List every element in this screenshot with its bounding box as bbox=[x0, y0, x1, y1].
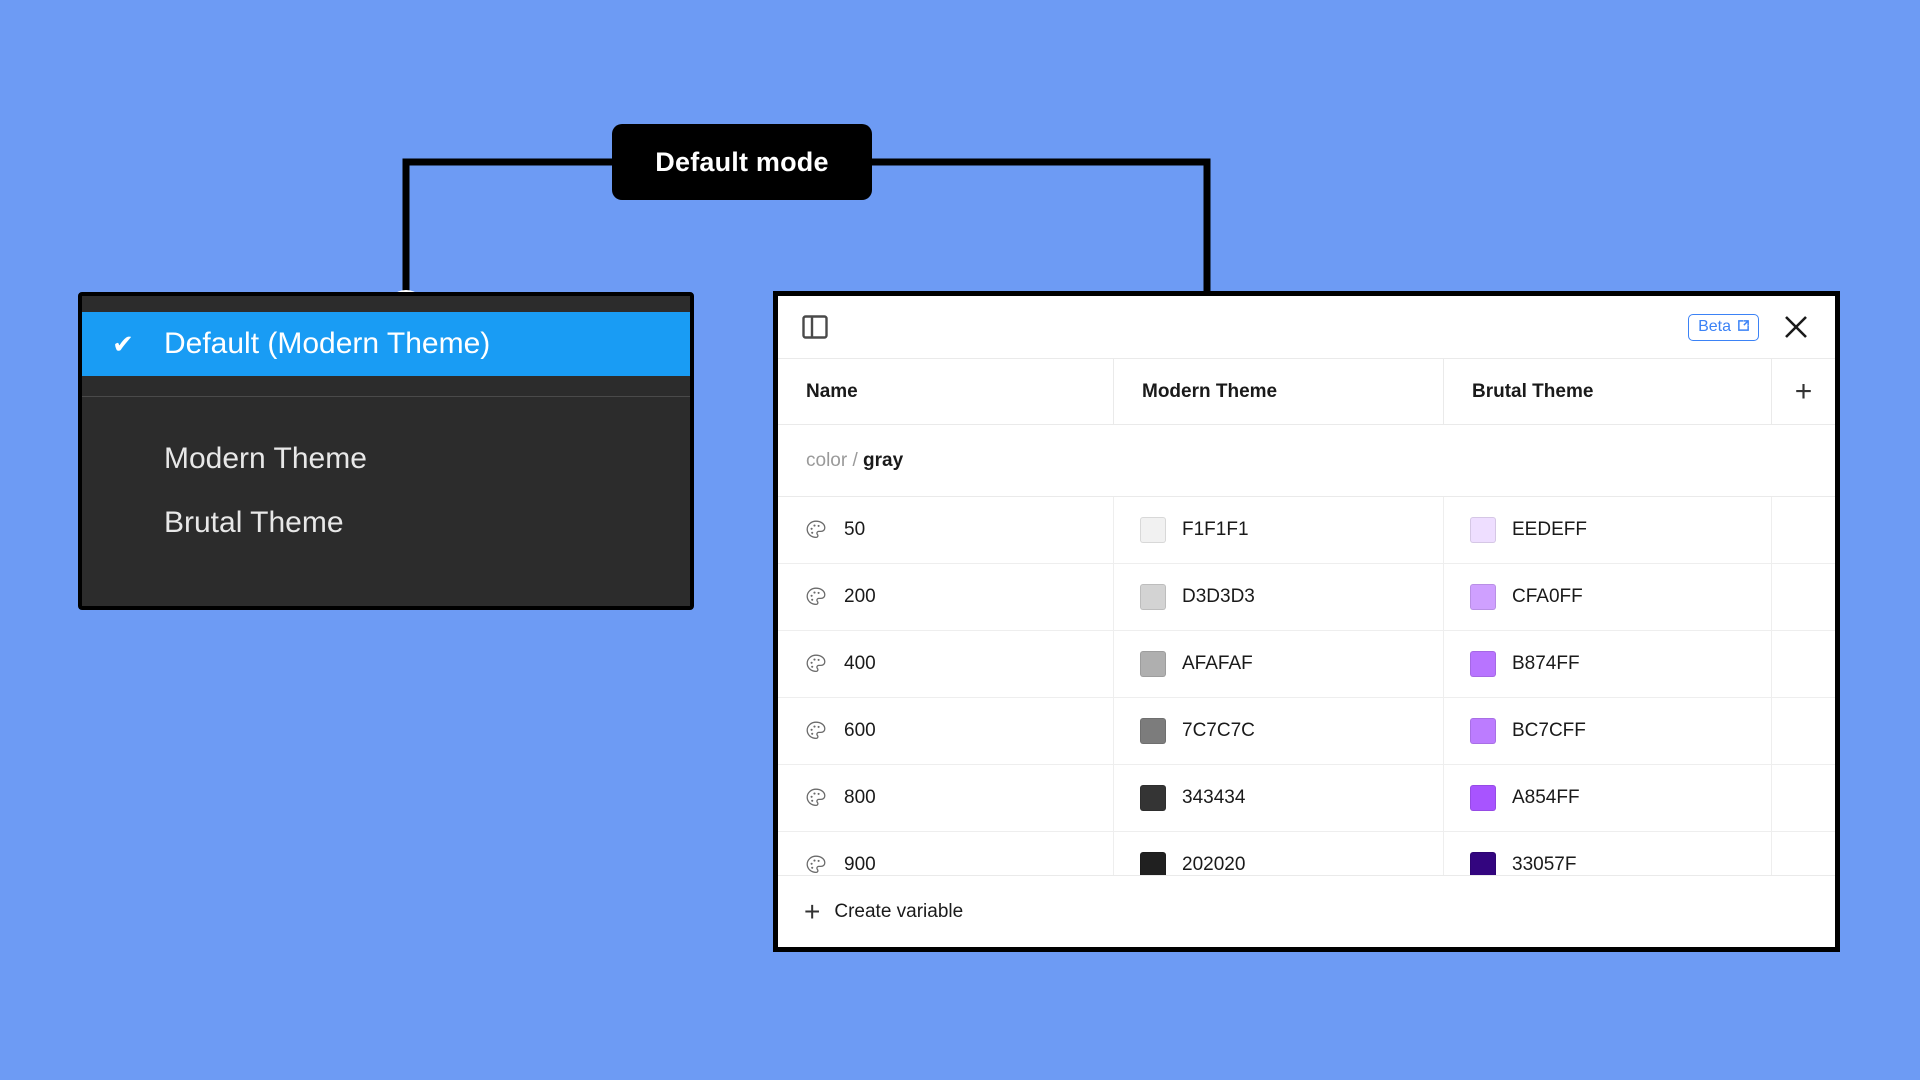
cell-value: 343434 bbox=[1182, 787, 1245, 809]
cell-value: AFAFAF bbox=[1182, 653, 1253, 675]
plus-icon: + bbox=[1795, 377, 1813, 407]
color-swatch bbox=[1470, 517, 1496, 543]
row-name-label: 600 bbox=[844, 720, 876, 742]
dropdown-top-padding bbox=[82, 296, 690, 312]
color-swatch bbox=[1140, 785, 1166, 811]
row-name-cell[interactable]: 900 bbox=[778, 832, 1114, 875]
cell-brutal-theme[interactable]: A854FF bbox=[1444, 765, 1772, 831]
palette-icon bbox=[804, 518, 828, 542]
cell-brutal-theme[interactable]: 33057F bbox=[1444, 832, 1772, 875]
cell-empty bbox=[1772, 698, 1835, 764]
row-name-cell[interactable]: 50 bbox=[778, 497, 1114, 563]
table-row[interactable]: 200 D3D3D3 CFA0FF bbox=[778, 564, 1835, 631]
color-swatch bbox=[1140, 718, 1166, 744]
beta-badge-label: Beta bbox=[1698, 319, 1731, 335]
cell-brutal-theme[interactable]: BC7CFF bbox=[1444, 698, 1772, 764]
cell-empty bbox=[1772, 765, 1835, 831]
cell-value: 33057F bbox=[1512, 854, 1576, 875]
variable-group-header[interactable]: color / gray bbox=[778, 425, 1835, 497]
cell-modern-theme[interactable]: AFAFAF bbox=[1114, 631, 1444, 697]
cell-modern-theme[interactable]: 343434 bbox=[1114, 765, 1444, 831]
dropdown-item-label: Modern Theme bbox=[164, 442, 385, 476]
dropdown-item-brutal-theme[interactable]: Brutal Theme bbox=[82, 491, 690, 555]
dropdown-item-default-mode[interactable]: ✔ Default (Modern Theme) bbox=[82, 312, 690, 376]
palette-icon bbox=[804, 786, 828, 810]
color-swatch bbox=[1470, 584, 1496, 610]
column-header-name[interactable]: Name bbox=[778, 359, 1114, 424]
annotation-label-text: Default mode bbox=[655, 147, 828, 178]
cell-empty bbox=[1772, 631, 1835, 697]
color-swatch bbox=[1470, 785, 1496, 811]
color-swatch bbox=[1140, 584, 1166, 610]
row-name-cell[interactable]: 600 bbox=[778, 698, 1114, 764]
row-name-label: 200 bbox=[844, 586, 876, 608]
table-row[interactable]: 900 202020 33057F bbox=[778, 832, 1835, 875]
panel-layout-icon[interactable] bbox=[798, 310, 832, 344]
cell-empty bbox=[1772, 832, 1835, 875]
cell-value: B874FF bbox=[1512, 653, 1580, 675]
create-variable-button[interactable]: + Create variable bbox=[778, 875, 1835, 947]
cell-value: 7C7C7C bbox=[1182, 720, 1255, 742]
row-name-label: 900 bbox=[844, 854, 876, 875]
palette-icon bbox=[804, 719, 828, 743]
dropdown-gap bbox=[82, 376, 690, 396]
annotation-label-default-mode: Default mode bbox=[612, 124, 872, 200]
external-link-icon bbox=[1737, 319, 1750, 336]
plus-icon: + bbox=[804, 898, 820, 926]
group-prefix: color / bbox=[806, 450, 858, 472]
dropdown-section-spacer bbox=[82, 397, 690, 427]
cell-value: EEDEFF bbox=[1512, 519, 1587, 541]
table-row[interactable]: 50 F1F1F1 EEDEFF bbox=[778, 497, 1835, 564]
color-swatch bbox=[1140, 651, 1166, 677]
palette-icon bbox=[804, 585, 828, 609]
cell-value: 202020 bbox=[1182, 854, 1245, 875]
cell-modern-theme[interactable]: 202020 bbox=[1114, 832, 1444, 875]
cell-modern-theme[interactable]: 7C7C7C bbox=[1114, 698, 1444, 764]
panel-topbar: Beta bbox=[778, 296, 1835, 358]
cell-brutal-theme[interactable]: EEDEFF bbox=[1444, 497, 1772, 563]
variables-panel: Beta Name Modern Theme Brutal Theme + bbox=[773, 291, 1840, 952]
variables-table: Name Modern Theme Brutal Theme + color /… bbox=[778, 358, 1835, 875]
cell-empty bbox=[1772, 564, 1835, 630]
row-name-cell[interactable]: 400 bbox=[778, 631, 1114, 697]
row-name-label: 400 bbox=[844, 653, 876, 675]
column-header-modern-theme[interactable]: Modern Theme bbox=[1114, 359, 1444, 424]
table-body: color / gray 50 bbox=[778, 425, 1835, 875]
beta-badge[interactable]: Beta bbox=[1688, 314, 1759, 341]
cell-empty bbox=[1772, 497, 1835, 563]
color-swatch bbox=[1470, 718, 1496, 744]
row-name-label: 50 bbox=[844, 519, 865, 541]
connector-line-left bbox=[406, 162, 612, 310]
cell-value: A854FF bbox=[1512, 787, 1580, 809]
palette-icon bbox=[804, 853, 828, 875]
close-icon[interactable] bbox=[1775, 306, 1817, 348]
cell-value: BC7CFF bbox=[1512, 720, 1586, 742]
color-swatch bbox=[1140, 517, 1166, 543]
cell-modern-theme[interactable]: D3D3D3 bbox=[1114, 564, 1444, 630]
dropdown-item-label: Default (Modern Theme) bbox=[164, 327, 508, 361]
checkmark-icon: ✔ bbox=[82, 329, 164, 360]
table-row[interactable]: 800 343434 A854FF bbox=[778, 765, 1835, 832]
column-header-brutal-theme[interactable]: Brutal Theme bbox=[1444, 359, 1772, 424]
mode-selector-menu[interactable]: ✔ Default (Modern Theme) Modern Theme Br… bbox=[78, 292, 694, 610]
cell-brutal-theme[interactable]: CFA0FF bbox=[1444, 564, 1772, 630]
cell-value: D3D3D3 bbox=[1182, 586, 1255, 608]
cell-value: CFA0FF bbox=[1512, 586, 1583, 608]
row-name-label: 800 bbox=[844, 787, 876, 809]
palette-icon bbox=[804, 652, 828, 676]
row-name-cell[interactable]: 200 bbox=[778, 564, 1114, 630]
cell-brutal-theme[interactable]: B874FF bbox=[1444, 631, 1772, 697]
add-column-button[interactable]: + bbox=[1772, 359, 1835, 424]
create-variable-label: Create variable bbox=[834, 901, 963, 923]
table-header-row: Name Modern Theme Brutal Theme + bbox=[778, 359, 1835, 425]
color-swatch bbox=[1140, 852, 1166, 875]
cell-modern-theme[interactable]: F1F1F1 bbox=[1114, 497, 1444, 563]
table-row[interactable]: 400 AFAFAF B874FF bbox=[778, 631, 1835, 698]
color-swatch bbox=[1470, 852, 1496, 875]
group-name: gray bbox=[863, 450, 903, 472]
dropdown-item-modern-theme[interactable]: Modern Theme bbox=[82, 427, 690, 491]
row-name-cell[interactable]: 800 bbox=[778, 765, 1114, 831]
color-swatch bbox=[1470, 651, 1496, 677]
table-row[interactable]: 600 7C7C7C BC7CFF bbox=[778, 698, 1835, 765]
dropdown-item-label: Brutal Theme bbox=[164, 506, 362, 540]
cell-value: F1F1F1 bbox=[1182, 519, 1249, 541]
